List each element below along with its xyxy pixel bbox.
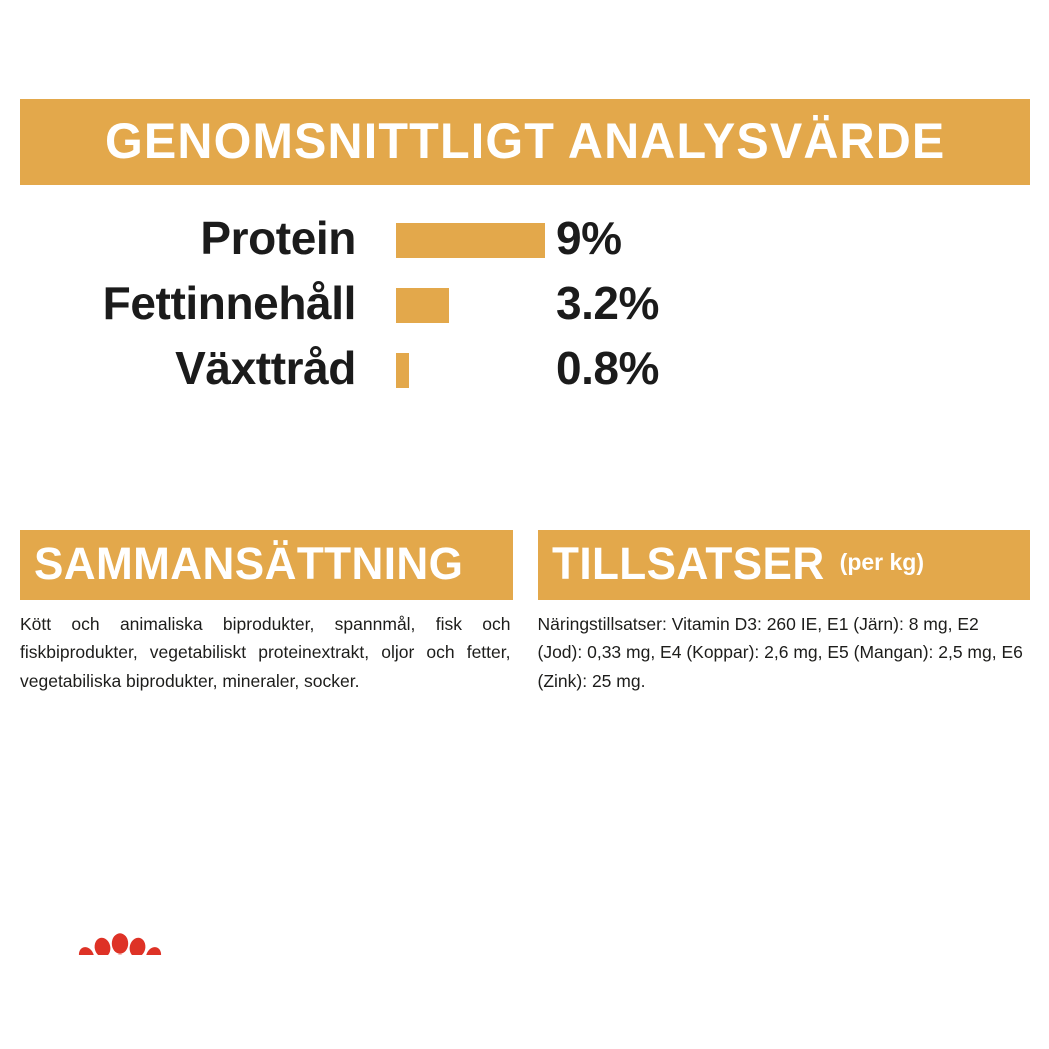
analysis-row: Protein 9% xyxy=(0,208,1049,273)
page-title: GENOMSNITTLIGT ANALYSVÄRDE xyxy=(105,116,945,169)
analysis-bar-track xyxy=(396,353,548,388)
analysis-banner: GENOMSNITTLIGT ANALYSVÄRDE xyxy=(20,99,1030,185)
analysis-row-label: Protein xyxy=(0,215,356,267)
additives-subheading: (per kg) xyxy=(840,551,924,580)
analysis-row-value: 3.2% xyxy=(548,280,659,332)
brand-footer xyxy=(0,929,1049,1001)
analysis-row: Växttråd 0.8% xyxy=(0,338,1049,403)
analysis-row-value: 0.8% xyxy=(548,345,659,397)
info-sections: SAMMANSÄTTNING Kött och animaliska bipro… xyxy=(20,530,1030,695)
analysis-bar xyxy=(396,223,545,258)
analysis-row: Fettinnehåll 3.2% xyxy=(0,273,1049,338)
composition-heading: SAMMANSÄTTNING xyxy=(34,541,463,590)
analysis-bar-track xyxy=(396,223,548,258)
composition-body-text: Kött och animaliska biprodukter, spannmå… xyxy=(20,610,513,695)
additives-heading: TILLSATSER xyxy=(552,541,825,590)
analysis-bar xyxy=(396,353,409,388)
analysis-row-label: Växttråd xyxy=(0,345,356,397)
additives-section: TILLSATSER (per kg) Näringstillsatser: V… xyxy=(538,530,1031,695)
analysis-bar xyxy=(396,288,449,323)
average-analysis-chart: Protein 9% Fettinnehåll 3.2% Växttråd 0.… xyxy=(0,208,1049,403)
composition-section: SAMMANSÄTTNING Kött och animaliska bipro… xyxy=(20,530,513,695)
analysis-bar-track xyxy=(396,288,548,323)
footer-spacer xyxy=(0,955,1049,1001)
additives-body-text: Näringstillsatser: Vitamin D3: 260 IE, E… xyxy=(538,610,1031,695)
analysis-row-label: Fettinnehåll xyxy=(0,280,356,332)
analysis-row-value: 9% xyxy=(548,215,621,267)
composition-heading-band: SAMMANSÄTTNING xyxy=(20,530,513,600)
additives-heading-band: TILLSATSER (per kg) xyxy=(538,530,1031,600)
